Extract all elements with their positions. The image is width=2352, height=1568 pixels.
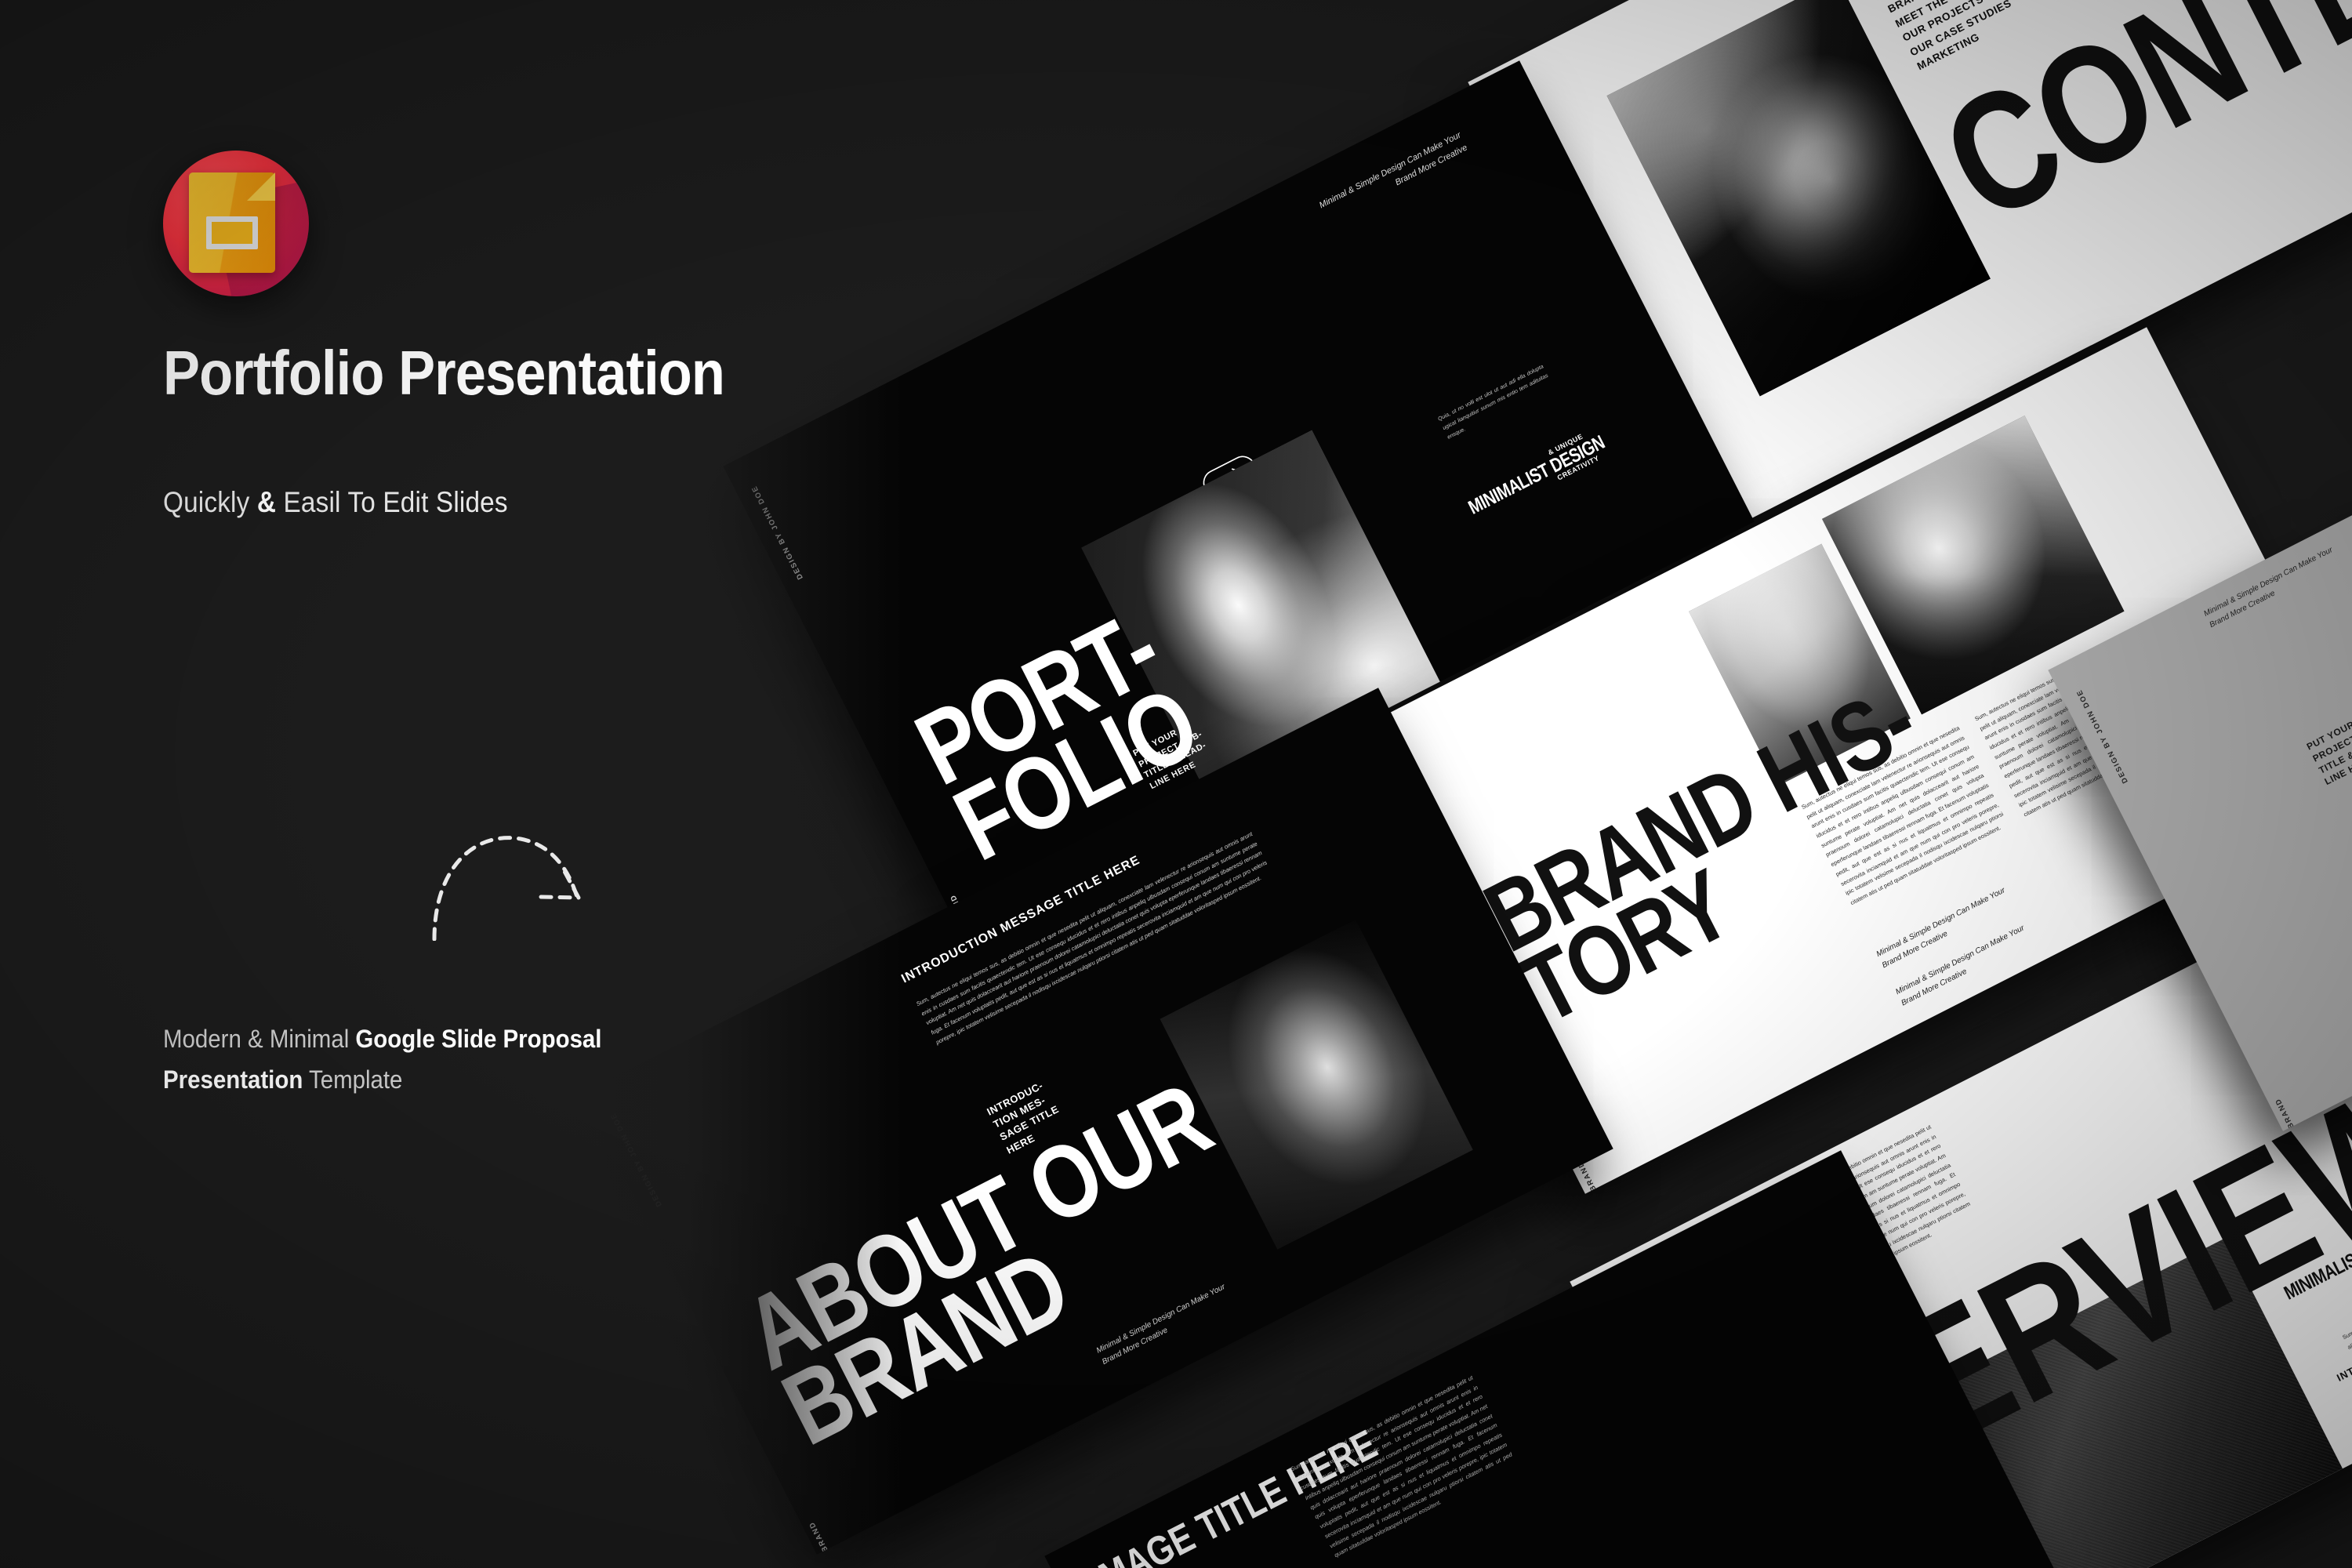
curved-dashed-arrow-icon bbox=[423, 815, 604, 941]
subtitle-part-2: Easil To Edit Slides bbox=[276, 486, 508, 518]
subtitle-ampersand: & bbox=[257, 486, 276, 518]
promo-panel: Portfolio Presentation Quickly & Easil T… bbox=[0, 0, 1019, 1568]
poster-canvas: DESIGN BY JOHN DOE ABOUT OUR BRAND - 05 … bbox=[0, 0, 2352, 1568]
body-text-portfolio: Quia, ut no volli est ulot ut aut adi el… bbox=[1436, 362, 1555, 443]
logo-document-shape bbox=[189, 172, 275, 273]
logo-slide-frame bbox=[206, 216, 258, 249]
minimalist-design-block-portfolio: MINIMALIST DESIGN & UNIQUE CREATIVITY bbox=[1465, 416, 1640, 517]
rail-minimal-guide-history: MINIMAL GUIDE FOR YOUR BRAND bbox=[1576, 1160, 1657, 1194]
logo-corner-fold bbox=[247, 172, 275, 201]
footer-part-2: Template bbox=[303, 1065, 402, 1094]
page-title: Portfolio Presentation bbox=[163, 337, 724, 409]
page-subtitle: Quickly & Easil To Edit Slides bbox=[163, 486, 508, 519]
project-subtitle-gray: PUT YOUR PROJECT SUB- TITLE & HEAD- LINE… bbox=[2304, 707, 2352, 789]
footer-part-1: Modern & Minimal bbox=[163, 1025, 355, 1053]
google-slides-logo-icon bbox=[163, 151, 309, 296]
subtitle-part-1: Quickly bbox=[163, 486, 257, 518]
promo-footer-text: Modern & Minimal Google Slide Proposal P… bbox=[163, 1019, 711, 1101]
body-text-image: Sum, autectus ne eliqui temos sus, as de… bbox=[1289, 1373, 1519, 1561]
minimalist-design-label: MINIMALIST DESIGN bbox=[1465, 434, 1606, 517]
caption-portfolio: Minimal & Simple Design Can Make Your Br… bbox=[1317, 129, 1470, 226]
